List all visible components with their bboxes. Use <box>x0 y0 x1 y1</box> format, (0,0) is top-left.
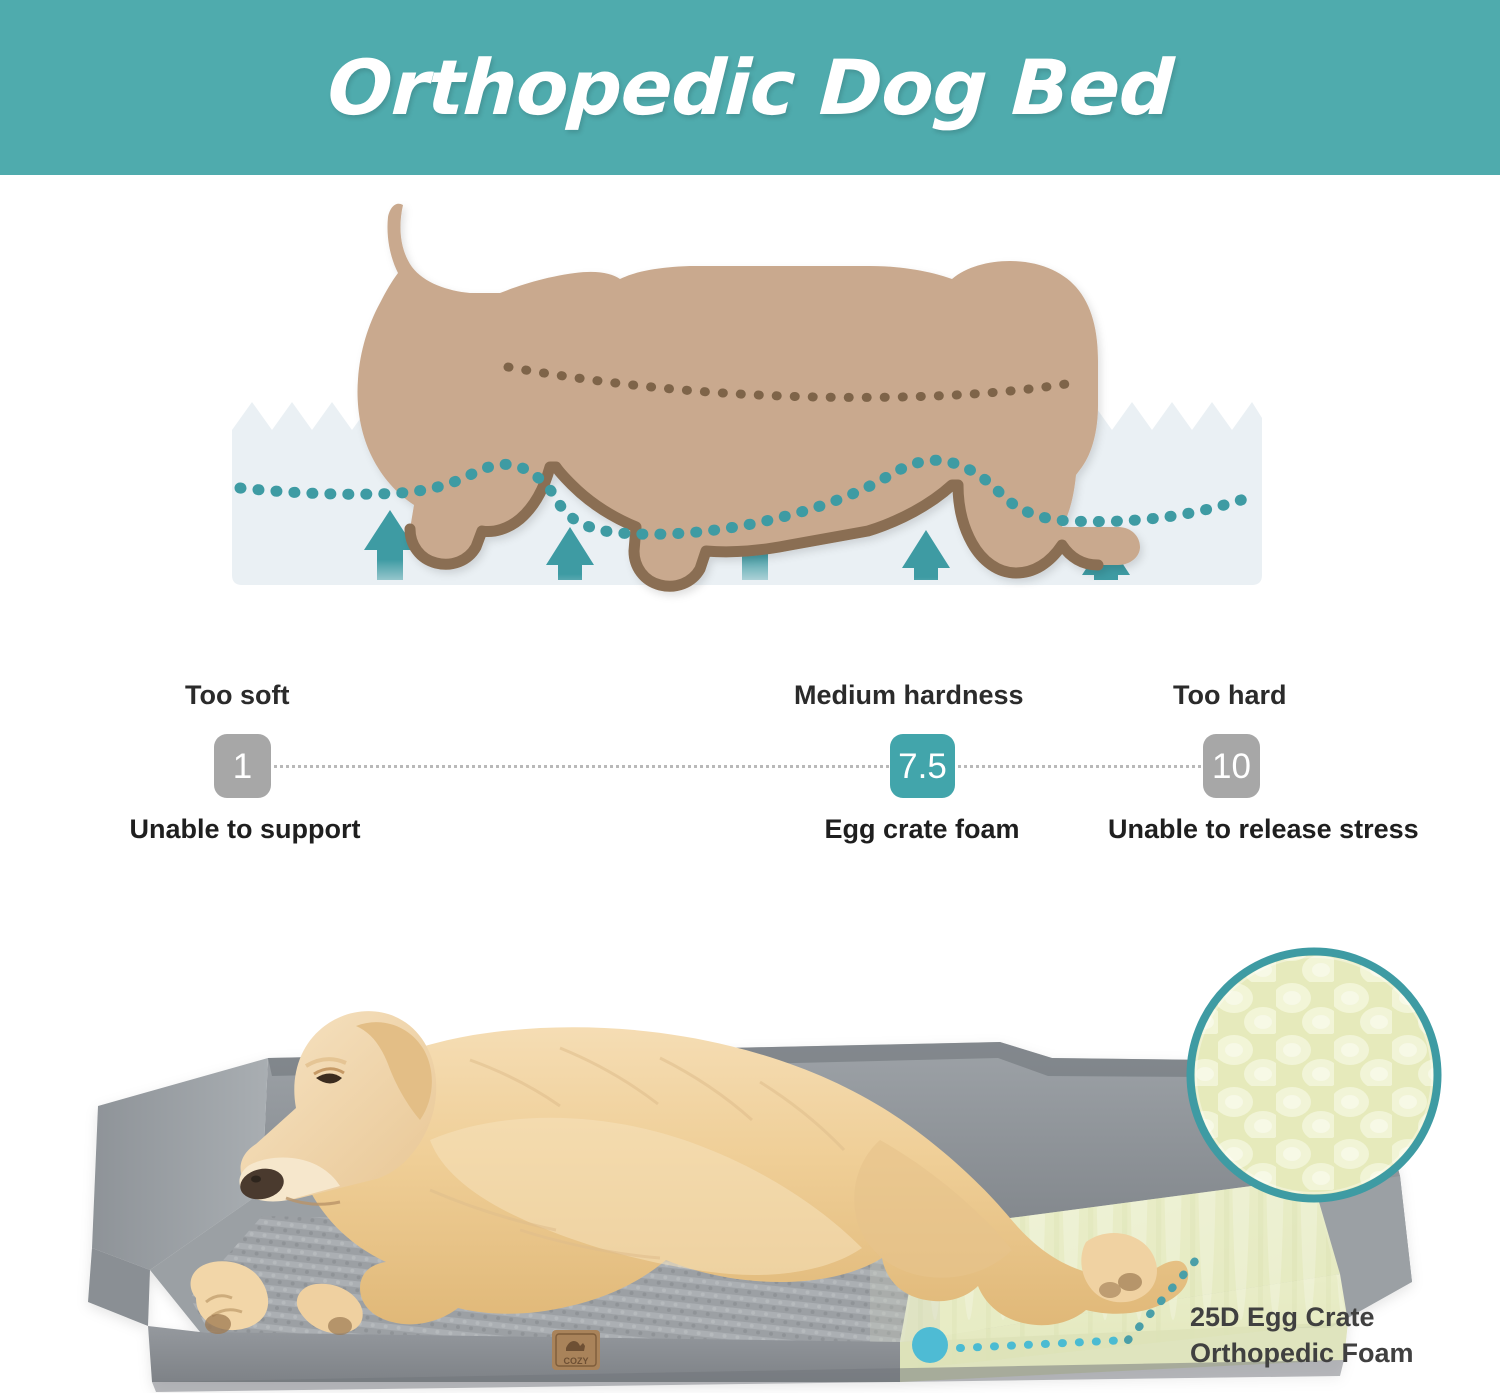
scale-top-label-3: Too hard <box>1173 680 1286 711</box>
egg-crate-foam-callout <box>1189 950 1439 1200</box>
scale-badge-value-3: 10 <box>1212 749 1251 784</box>
page-title: Orthopedic Dog Bed <box>326 50 1175 126</box>
scale-badge-value-1: 1 <box>233 749 252 784</box>
scale-badge-value-2: 7.5 <box>898 749 947 784</box>
scale-top-label-1: Too soft <box>185 680 289 711</box>
scale-badge-7-5[interactable]: 7.5 <box>890 734 955 798</box>
svg-text:COZY: COZY <box>563 1356 588 1366</box>
scale-top-label-2: Medium hardness <box>794 680 1024 711</box>
scale-bottom-label-1: Unable to support <box>110 813 380 847</box>
callout-caption-line-2: Orthopedic Foam <box>1190 1336 1480 1372</box>
callout-caption: 25D Egg Crate Orthopedic Foam <box>1190 1300 1480 1372</box>
hardness-scale: Too soft 1 Unable to support Medium hard… <box>0 660 1500 920</box>
callout-caption-line-1: 25D Egg Crate <box>1190 1300 1480 1336</box>
scale-track-line <box>245 765 1255 771</box>
brand-tag: COZY <box>552 1330 600 1370</box>
scale-badge-10[interactable]: 10 <box>1203 734 1260 798</box>
scale-badge-1[interactable]: 1 <box>214 734 271 798</box>
scale-bottom-label-3: Unable to release stress <box>1108 813 1362 847</box>
scale-bottom-label-2: Egg crate foam <box>787 813 1057 847</box>
pressure-diagram <box>0 175 1500 645</box>
header-banner: Orthopedic Dog Bed <box>0 0 1500 175</box>
